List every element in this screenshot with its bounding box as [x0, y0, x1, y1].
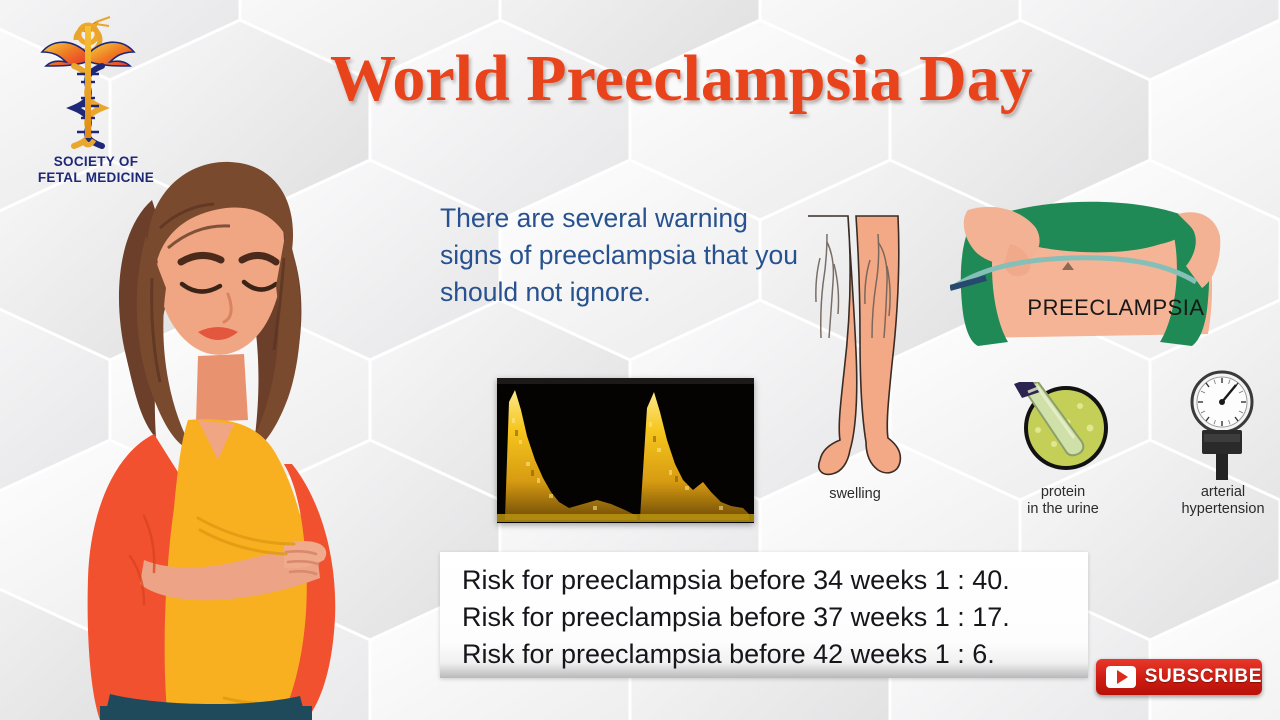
bp-caption: arterial hypertension — [1168, 484, 1278, 518]
bp-caption-line2: hypertension — [1168, 501, 1278, 518]
risk-line: Risk for preeclampsia before 37 weeks 1 … — [462, 599, 1088, 636]
play-button-icon — [1106, 666, 1136, 688]
urine-caption-line2: in the urine — [1008, 501, 1118, 518]
sphygmomanometer-gauge-icon — [1178, 368, 1266, 486]
doppler-ultrasound-waveform — [497, 378, 754, 523]
subscribe-label: SUBSCRIBE — [1145, 666, 1262, 688]
urine-caption: protein in the urine — [1008, 484, 1118, 518]
swollen-legs-illustration — [800, 212, 910, 482]
fundal-height-measurement-illustration — [950, 192, 1222, 354]
risk-line: Risk for preeclampsia before 34 weeks 1 … — [462, 562, 1088, 599]
urine-sample-icon — [1014, 382, 1108, 476]
page-title: World Preeclampsia Day — [330, 42, 1210, 116]
swelling-caption: swelling — [800, 486, 910, 503]
risk-panel: Risk for preeclampsia before 34 weeks 1 … — [440, 552, 1088, 678]
risk-line: Risk for preeclampsia before 42 weeks 1 … — [462, 636, 1088, 673]
belly-overlay-text: PREECLAMPSIA — [1016, 295, 1216, 321]
slide-canvas: SOCIETY OF FETAL MEDICINE — [0, 0, 1280, 720]
lead-paragraph: There are several warning signs of preec… — [440, 200, 800, 311]
subscribe-button[interactable]: SUBSCRIBE — [1096, 659, 1262, 695]
urine-caption-line1: protein — [1008, 484, 1118, 501]
pregnant-woman-illustration — [48, 108, 368, 720]
bp-caption-line1: arterial — [1168, 484, 1278, 501]
